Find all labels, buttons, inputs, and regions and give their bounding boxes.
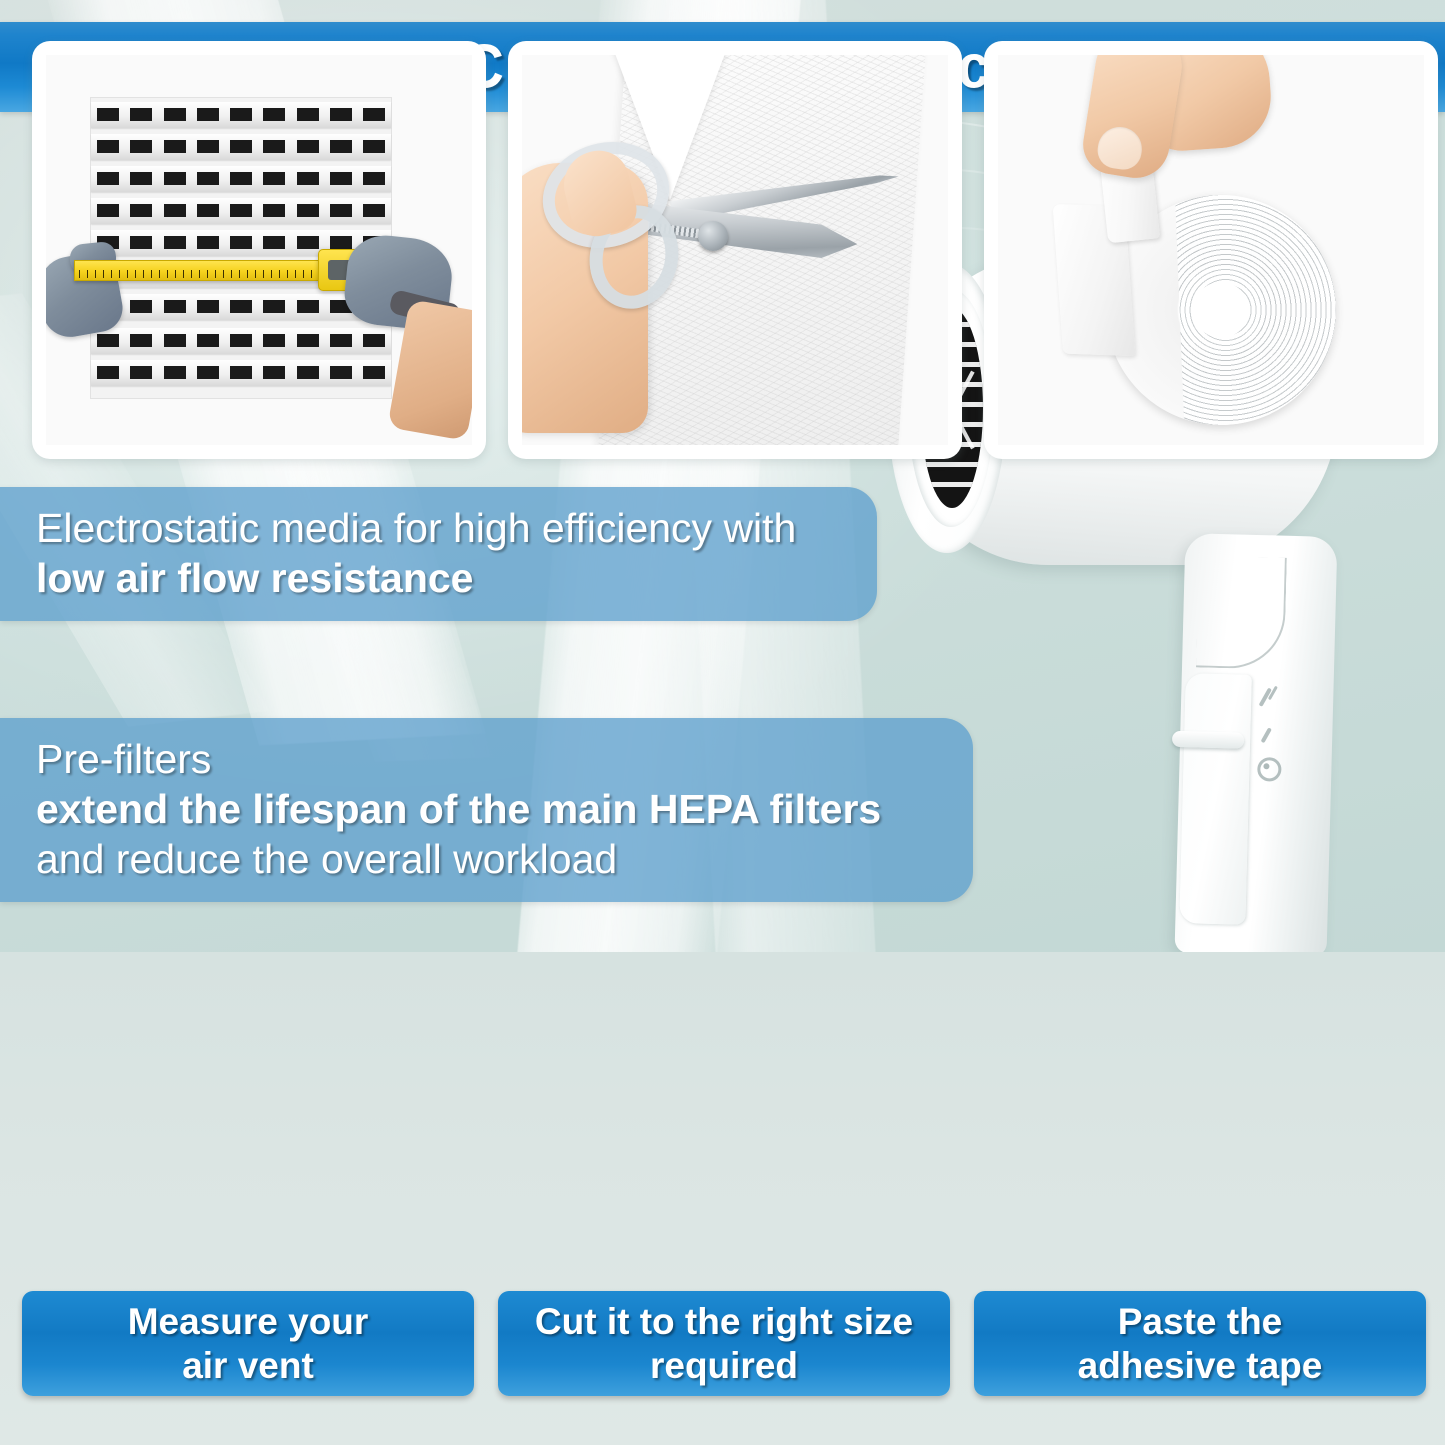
step-label-line: required	[650, 1344, 798, 1388]
scissors-pivot-screw	[698, 221, 728, 251]
tape-roll-core	[1193, 282, 1249, 338]
step-label-line: air vent	[182, 1344, 314, 1388]
feature-line: Pre-filters	[36, 734, 933, 784]
step-label-paste: Paste the adhesive tape	[974, 1291, 1426, 1396]
product-infographic: Extend HVAC Lifespan, Enhance Efficiency…	[0, 0, 1445, 1445]
dryer-switch-plate	[1179, 673, 1252, 925]
feature-line: low air flow resistance	[36, 553, 837, 603]
step-label-line: adhesive tape	[1078, 1344, 1323, 1388]
photo-air-vent-with-tape-measure	[46, 55, 472, 445]
photo-scissors-cutting-filter	[522, 55, 948, 445]
step-card-cut	[508, 41, 962, 459]
step-label-measure: Measure your air vent	[22, 1291, 474, 1396]
feature-line: Electrostatic media for high efficiency …	[36, 503, 837, 553]
step-label-cut: Cut it to the right size required	[498, 1291, 950, 1396]
feature-line: and reduce the overall workload	[36, 834, 933, 884]
step-card-measure	[32, 41, 486, 459]
airflow-icon	[1261, 727, 1272, 743]
tape-measure-blade	[74, 260, 328, 281]
air-vent-grille	[90, 97, 392, 399]
dryer-handle-seam	[1196, 555, 1287, 669]
step-label-line: Paste the	[1118, 1300, 1283, 1344]
photo-adhesive-tape-roll	[998, 55, 1424, 445]
feature-line: extend the lifespan of the main HEPA fil…	[36, 784, 933, 834]
dryer-handle	[1175, 533, 1338, 952]
step-label-line: Measure your	[128, 1300, 369, 1344]
feature-callout-electrostatic-media: Electrostatic media for high efficiency …	[0, 487, 877, 621]
dryer-switch-knob	[1172, 731, 1244, 749]
step-label-line: Cut it to the right size	[535, 1300, 913, 1344]
power-icon	[1257, 757, 1282, 782]
step-card-paste	[984, 41, 1438, 459]
feature-callout-pre-filters: Pre-filters extend the lifespan of the m…	[0, 718, 973, 902]
